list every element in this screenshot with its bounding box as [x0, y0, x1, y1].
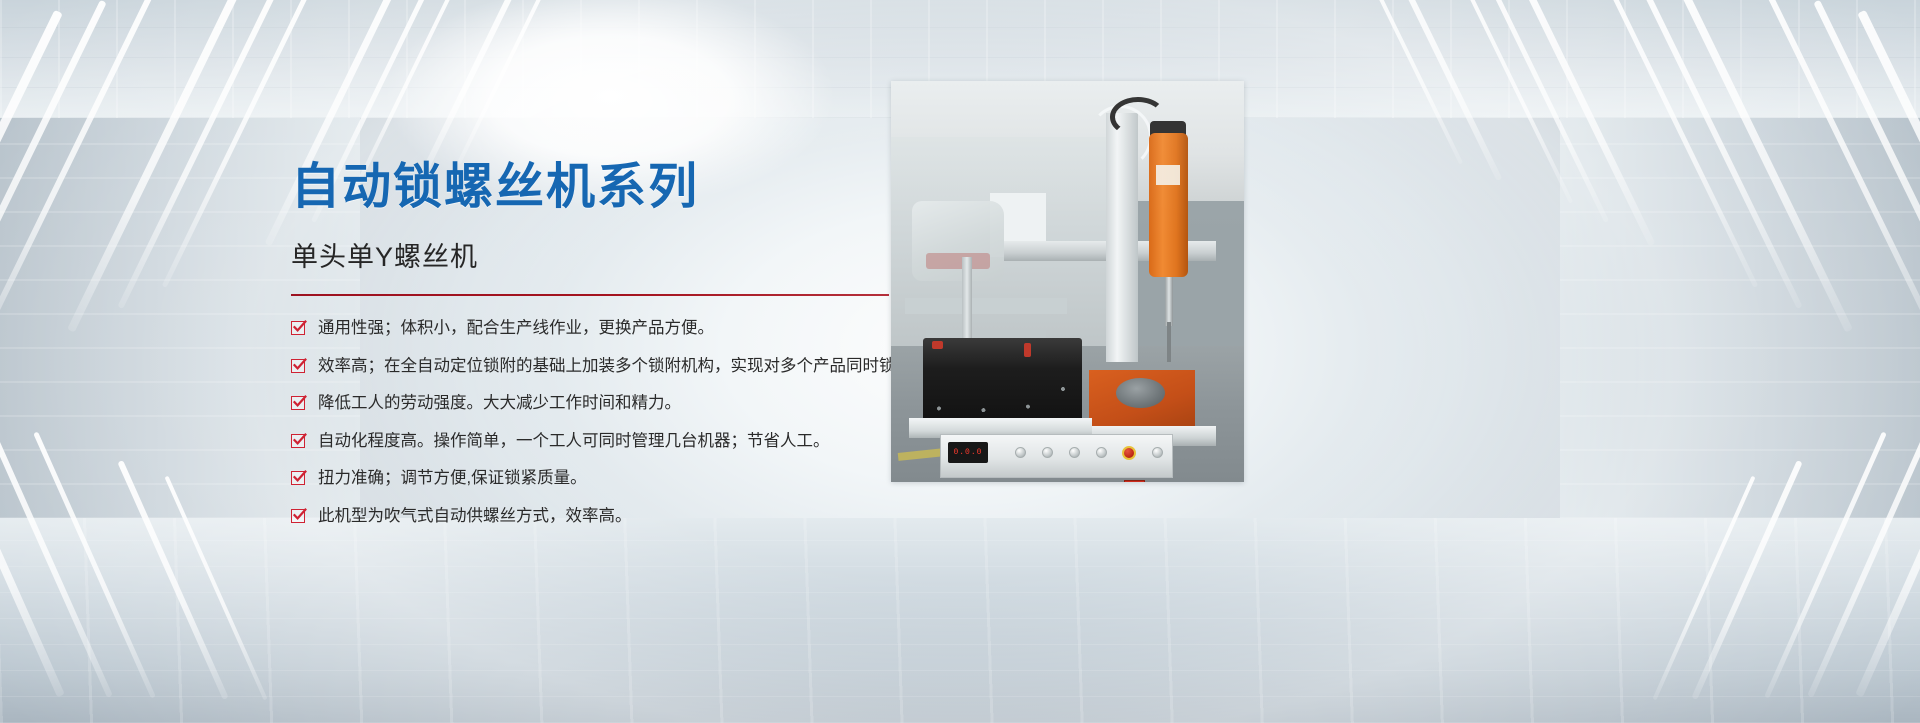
photo-screwdriver-shaft [1165, 277, 1174, 325]
check-icon [291, 359, 305, 373]
product-banner: 自动锁螺丝机系列 单头单Y螺丝机 通用性强；体积小，配合生产线作业，更换产品方便… [0, 0, 1920, 723]
check-icon [291, 471, 305, 485]
banner-content: 自动锁螺丝机系列 单头单Y螺丝机 通用性强；体积小，配合生产线作业，更换产品方便… [0, 0, 1920, 723]
photo-screwdriver-label [1156, 165, 1181, 185]
banner-text-column: 自动锁螺丝机系列 单头单Y螺丝机 通用性强；体积小，配合生产线作业，更换产品方便… [291, 160, 891, 544]
photo-knob-3 [1069, 447, 1080, 458]
photo-feeder-bolts [923, 338, 1082, 426]
photo-knob-4 [1096, 447, 1107, 458]
list-item: 降低工人的劳动强度。大大减少工作时间和精力。 [291, 393, 891, 414]
check-icon [291, 321, 305, 335]
list-item-label: 通用性强；体积小，配合生产线作业，更换产品方便。 [318, 318, 714, 339]
photo-knob-5 [1152, 447, 1163, 458]
photo-control-panel: 0.0.0 [940, 434, 1173, 478]
title-divider [291, 294, 889, 296]
photo-power-button [1124, 480, 1145, 483]
list-item-label: 降低工人的劳动强度。大大减少工作时间和精力。 [318, 393, 681, 414]
photo-knob-2 [1042, 447, 1053, 458]
photo-electric-screwdriver [1149, 133, 1188, 277]
photo-wrapped-machine [912, 201, 1004, 281]
check-icon [291, 396, 305, 410]
photo-knob-1 [1015, 447, 1026, 458]
product-photo: 0.0.0 [891, 81, 1244, 482]
photo-workpiece [1116, 378, 1165, 408]
check-icon [291, 509, 305, 523]
photo-controller-display-value: 0.0.0 [953, 448, 982, 457]
photo-control-knobs [1015, 442, 1163, 464]
photo-wrapped-machine-detail [926, 253, 990, 269]
photo-screw-feeder [923, 338, 1082, 426]
page-title: 自动锁螺丝机系列 [291, 160, 891, 215]
photo-orange-fixture [1089, 370, 1195, 430]
list-item-label: 效率高；在全自动定位锁附的基础上加装多个锁附机构，实现对多个产品同时锁附。 [318, 356, 929, 377]
page-subtitle: 单头单Y螺丝机 [291, 235, 891, 274]
photo-controller-display: 0.0.0 [948, 442, 987, 462]
list-item-label: 此机型为吹气式自动供螺丝方式，效率高。 [318, 506, 632, 527]
list-item-label: 自动化程度高。操作简单，一个工人可同时管理几台机器；节省人工。 [318, 431, 830, 452]
photo-emergency-stop-button [1122, 446, 1136, 460]
list-item: 扭力准确；调节方便,保证锁紧质量。 [291, 468, 891, 489]
list-item-label: 扭力准确；调节方便,保证锁紧质量。 [318, 468, 587, 489]
list-item: 通用性强；体积小，配合生产线作业，更换产品方便。 [291, 318, 891, 339]
check-icon [291, 434, 305, 448]
photo-screwdriver-bit [1167, 322, 1171, 362]
list-item: 自动化程度高。操作简单，一个工人可同时管理几台机器；节省人工。 [291, 431, 891, 452]
list-item: 此机型为吹气式自动供螺丝方式，效率高。 [291, 506, 891, 527]
feature-list: 通用性强；体积小，配合生产线作业，更换产品方便。 效率高；在全自动定位锁附的基础… [291, 318, 891, 527]
list-item: 效率高；在全自动定位锁附的基础上加装多个锁附机构，实现对多个产品同时锁附。 [291, 356, 891, 377]
photo-workbench-1 [905, 298, 1067, 314]
